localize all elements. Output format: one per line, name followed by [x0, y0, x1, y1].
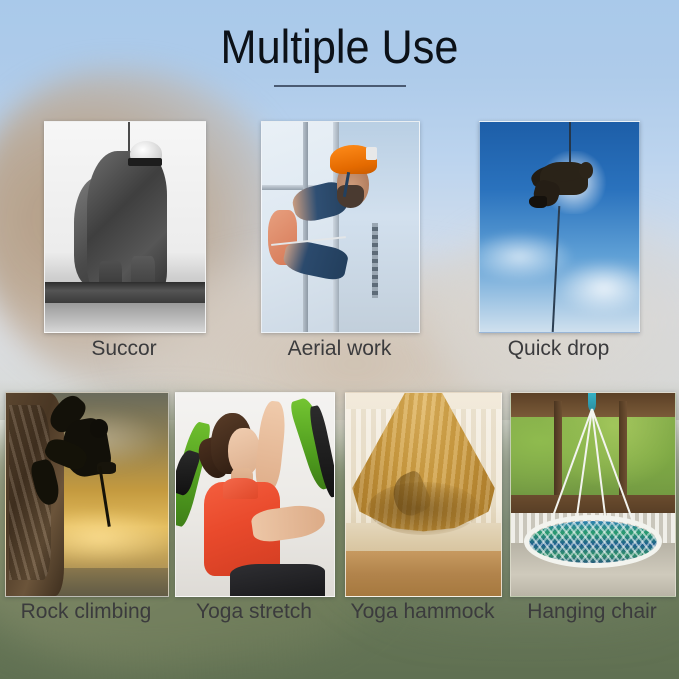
caption-hanging-chair: Hanging chair: [527, 600, 657, 624]
quick-drop-photo[interactable]: [479, 121, 640, 333]
quickdrop-boot: [529, 196, 546, 209]
rock-head: [90, 419, 108, 437]
hanging-chair-photo[interactable]: [510, 392, 676, 597]
chair-frame-ring: [524, 515, 662, 568]
quickdrop-cloud-right: [556, 261, 640, 316]
quickdrop-rope-upper: [569, 122, 571, 164]
chair-railing: [511, 495, 675, 513]
succor-beam: [45, 282, 205, 303]
yoga-leggings: [230, 564, 325, 597]
card-aerial-work[interactable]: Aerial work: [261, 121, 418, 333]
yoga-stretch-photo[interactable]: [175, 392, 335, 597]
hammock-floor: [346, 551, 501, 596]
title-divider: [274, 85, 406, 87]
succor-floor: [45, 303, 205, 332]
caption-succor: Succor: [91, 337, 156, 361]
card-rock-climbing[interactable]: Rock climbing: [5, 392, 167, 597]
card-succor[interactable]: Succor: [44, 121, 204, 333]
page-title: Multiple Use: [27, 22, 652, 71]
caption-yoga-hammock: Yoga hammock: [351, 600, 495, 624]
quickdrop-head: [579, 162, 593, 179]
header: Multiple Use: [0, 22, 679, 87]
card-hanging-chair[interactable]: Hanging chair: [510, 392, 674, 597]
yoga-hammock-photo[interactable]: [345, 392, 502, 597]
succor-photo[interactable]: [44, 121, 206, 333]
caption-quick-drop: Quick drop: [508, 337, 610, 361]
card-yoga-stretch[interactable]: Yoga stretch: [175, 392, 333, 597]
bottom-row: Rock climbing Yoga stretch: [0, 392, 679, 642]
card-quick-drop[interactable]: Quick drop: [479, 121, 638, 333]
rock-climbing-photo[interactable]: [5, 392, 169, 597]
caption-yoga-stretch: Yoga stretch: [196, 600, 312, 624]
aerial-work-photo[interactable]: [261, 121, 420, 333]
card-yoga-hammock[interactable]: Yoga hammock: [345, 392, 500, 597]
succor-helmet-band: [128, 158, 162, 166]
yoga-tank-straps: [223, 478, 258, 498]
aerial-helmet-lamp: [366, 147, 377, 160]
top-row: Succor Aerial work: [0, 121, 679, 371]
caption-rock-climbing: Rock climbing: [21, 600, 152, 624]
yoga-arm-raised: [254, 400, 288, 491]
aerial-frame-v: [303, 122, 308, 332]
infographic-root: Multiple Use Succor: [0, 0, 679, 679]
caption-aerial-work: Aerial work: [288, 337, 392, 361]
aerial-beard: [337, 185, 364, 208]
